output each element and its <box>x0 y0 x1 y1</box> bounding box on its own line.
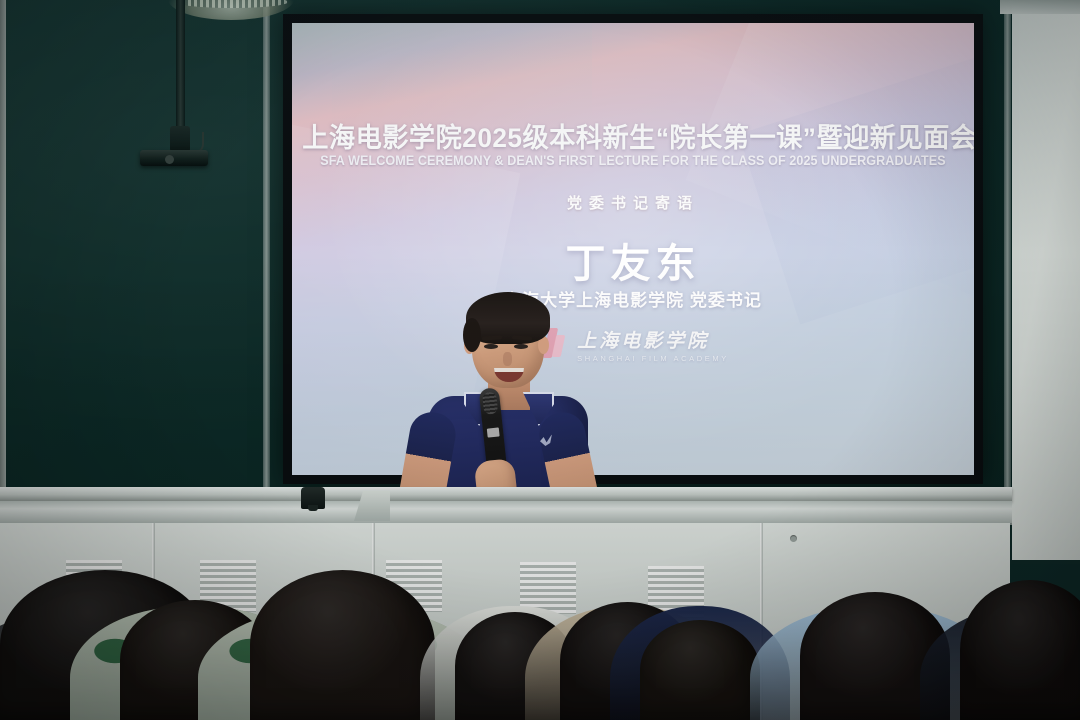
projection-screen: 上海电影学院2025级本科新生“院长第一课”暨迎新见面会 SFA WELCOME… <box>283 14 983 484</box>
projector-mount-rod <box>176 0 185 130</box>
speaker-eye <box>514 344 528 349</box>
microphone-badge <box>487 427 500 437</box>
right-wall <box>1012 0 1080 560</box>
audience-head <box>640 620 760 720</box>
screen-bezel <box>283 14 983 484</box>
projector-lens-icon <box>165 155 174 164</box>
speaker-nose <box>503 352 512 366</box>
audience-head <box>250 570 435 720</box>
lecture-hall-photo: 上海电影学院2025级本科新生“院长第一课”暨迎新见面会 SFA WELCOME… <box>0 0 1080 720</box>
chalkboard-seam <box>1004 0 1011 487</box>
speaker-eye <box>484 344 498 349</box>
speaker-hair <box>466 292 550 344</box>
speaker-collar <box>464 392 554 430</box>
ceiling-strip <box>1000 0 1080 14</box>
ceiling-projector-icon <box>140 150 208 166</box>
audience-head <box>960 580 1080 720</box>
audience-front-rows <box>0 500 1080 720</box>
chalkboard-seam <box>263 0 270 487</box>
chalk-rail <box>0 487 1012 501</box>
chalkboard-frame-left <box>0 0 6 487</box>
